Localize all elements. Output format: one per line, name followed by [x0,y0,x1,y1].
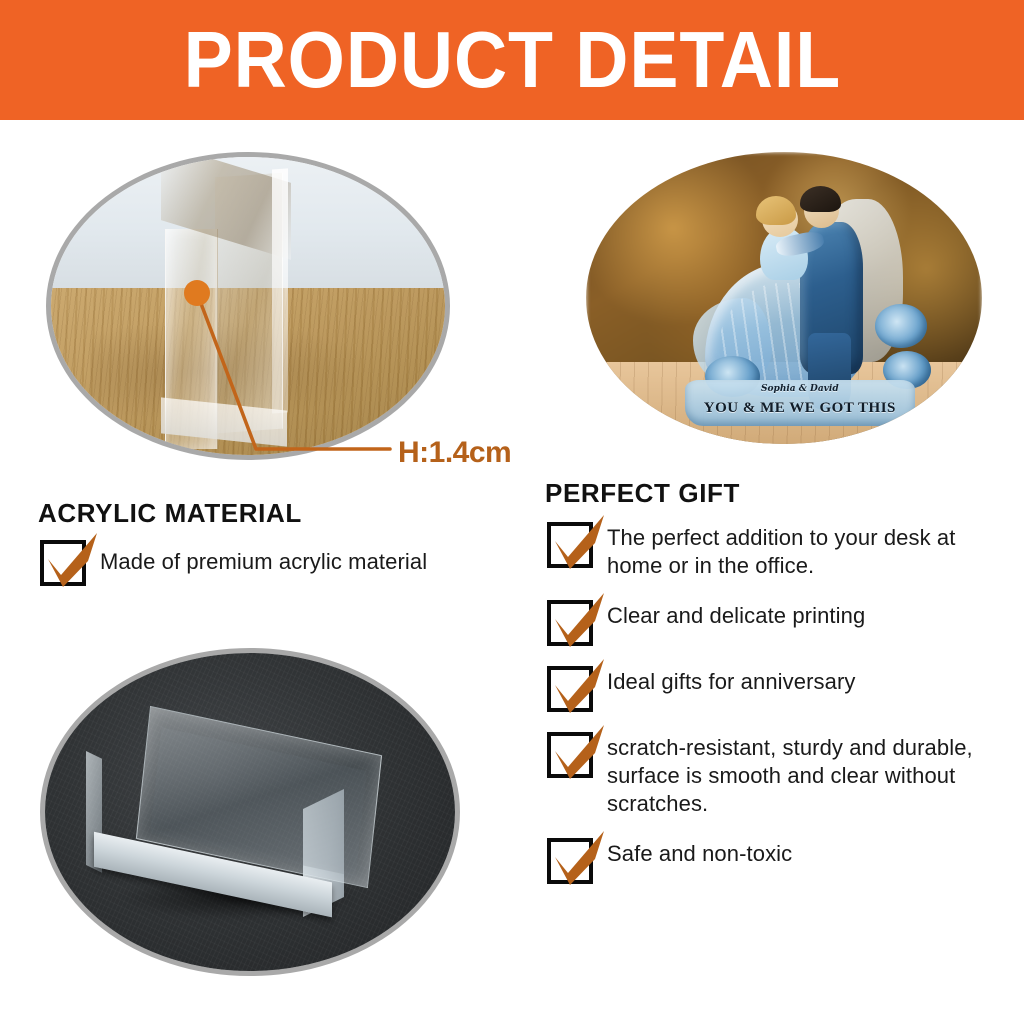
page-title: PRODUCT DETAIL [183,20,841,100]
checkbox-frame[interactable] [547,600,593,646]
acrylic-block-photo-content [45,653,455,971]
checkbox-frame[interactable] [40,540,86,586]
list-item-label: scratch-resistant, sturdy and durable, s… [607,732,1009,818]
header-banner: PRODUCT DETAIL [0,0,1024,120]
bullet-list-acrylic-material: Made of premium acrylic material [40,540,520,604]
list-item-label: Ideal gifts for anniversary [607,666,855,696]
list-item-label: The perfect addition to your desk at hom… [607,522,1009,580]
checkbox-frame[interactable] [547,522,593,568]
plaque-name-text: Sophia & David [685,384,915,394]
list-item: Safe and non-toxic [547,838,1009,884]
list-item-label: Made of premium acrylic material [100,540,427,576]
bullet-list-perfect-gift: The perfect addition to your desk at hom… [547,522,1009,904]
figurine-photo: Sophia & David YOU & ME WE GOT THIS [586,152,982,444]
section-heading-acrylic-material: ACRYLIC MATERIAL [38,498,302,529]
list-item: scratch-resistant, sturdy and durable, s… [547,732,1009,818]
rose-decoration-right-upper [875,304,926,348]
list-item-label: Clear and delicate printing [607,600,865,630]
check-icon [548,513,610,571]
list-item-label: Safe and non-toxic [607,838,792,868]
list-item: The perfect addition to your desk at hom… [547,522,1009,580]
acrylic-block-photo [40,648,460,976]
check-icon [41,531,103,589]
list-item: Clear and delicate printing [547,600,1009,646]
checkbox-frame[interactable] [547,666,593,712]
checkbox-frame[interactable] [547,732,593,778]
check-icon [548,829,610,887]
product-detail-page: PRODUCT DETAIL [0,0,1024,1024]
checkbox-frame[interactable] [547,838,593,884]
list-item: Ideal gifts for anniversary [547,666,1009,712]
acrylic-edge-photo-content [51,157,445,455]
acrylic-block-highlight [272,168,288,413]
size-label: H:1.4cm [398,436,511,470]
list-item: Made of premium acrylic material [40,540,520,586]
check-icon [548,591,610,649]
acrylic-edge-photo [46,152,450,460]
section-heading-perfect-gift: PERFECT GIFT [545,478,740,509]
plaque-slogan-text: YOU & ME WE GOT THIS [685,400,915,417]
figurine-photo-content: Sophia & David YOU & ME WE GOT THIS [586,152,982,444]
check-icon [548,657,610,715]
check-icon [548,723,610,781]
